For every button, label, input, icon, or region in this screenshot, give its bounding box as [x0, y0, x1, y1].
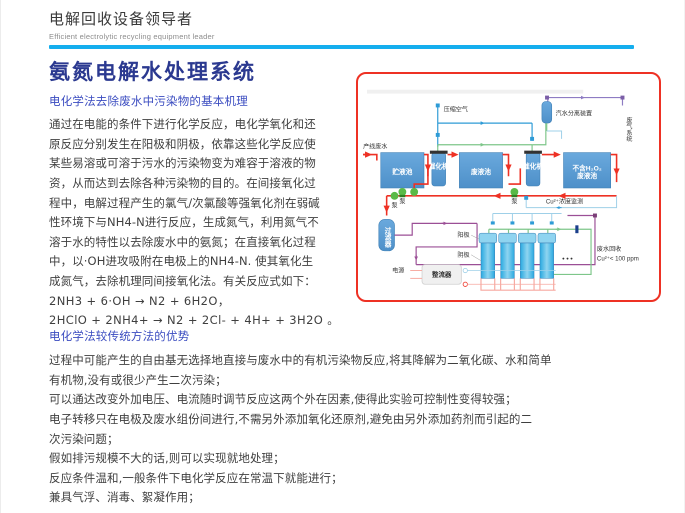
label-compressed-air: 压缩空气 — [444, 105, 468, 113]
label-exhaust-system: 废气系统 — [625, 117, 632, 143]
label-tank-1: 贮液池 — [391, 167, 412, 176]
process-flow-diagram: 废气系统 压缩空气 汽水分离装置 贮液池 — [356, 72, 661, 302]
label-pump-2: 泵 — [511, 199, 517, 206]
section-body: 通过在电能的条件下进行化学反应，电化学氧化和还 原反应分别发生在阳极和阴极，依靠… — [49, 115, 349, 331]
electrolysis-cells — [479, 233, 556, 278]
label-reactor-1: 催化机 — [429, 161, 449, 170]
body-line: 次污染问题； — [49, 430, 609, 450]
body-line: 电子转移只在电极及废水组份间进行,不需另外添加氧化还原剂,避免由另外添加药剂而引… — [49, 410, 609, 430]
body-line: 有机物,没有或很少产生二次污染； — [49, 371, 609, 391]
label-rectifier-input: 电源 — [392, 266, 404, 274]
body-line: 原反应分别发生在阳极和阴极，依靠这些化学反应使 — [49, 135, 349, 155]
equation-line: 2NH3 + 6·OH → N2 + 6H2O， — [49, 292, 349, 312]
section-heading: 电化学法去除废水中污染物的基本机理 — [49, 93, 349, 110]
document-page: 电解回收设备领导者 Efficient electrolytic recycli… — [0, 0, 685, 513]
brand-tagline-en: Efficient electrolytic recycling equipme… — [49, 32, 639, 41]
label-reactor-2: 催化机 — [523, 161, 543, 170]
page-title: 氨氮电解水处理系统 — [49, 60, 256, 85]
body-line: 可以通达改变外加电压、电流随时调节反应这两个外在因素,使得此实验可控制性变得较强… — [49, 390, 609, 410]
body-line: 通过在电能的条件下进行化学反应，电化学氧化和还 — [49, 115, 349, 135]
label-pump-3: 泵 — [391, 203, 397, 210]
label-cu-monitor: Cu²⁺浓度监测 — [546, 198, 583, 206]
body-line: 中，以·OH进攻吸附在电极上的NH4-N. 使其氧化生 — [49, 252, 349, 272]
section-mechanism: 电化学法去除废水中污染物的基本机理 通过在电能的条件下进行化学反应，电化学氧化和… — [49, 93, 349, 331]
section-advantages: 电化学法较传统方法的优势 过程中可能产生的自由基无选择地直接与废水中的有机污染物… — [49, 328, 609, 508]
body-line: 资，从而达到去除各种污染物的目的。在间接氧化过 — [49, 174, 349, 194]
label-rectifier: 整流器 — [431, 269, 452, 278]
body-line: 程中，电解过程产生的氯气/次氯酸等强氧化剂在弱碱 — [49, 194, 349, 214]
label-steam-separator: 汽水分离装置 — [556, 109, 592, 117]
label-recovery: 废水回收 — [597, 245, 621, 253]
body-line: 反应条件温和,一般条件下电化学反应在常温下就能进行； — [49, 469, 609, 489]
label-anode: 阳极 — [457, 231, 469, 239]
label-cathode: 阴极 — [457, 251, 469, 259]
label-tank-3: 不含H₂O₂ — [572, 163, 601, 172]
body-line: 溶于水的特性以去除废水中的氨氮；在直接氧化过程 — [49, 233, 349, 253]
header-divider — [49, 45, 634, 49]
section-body: 过程中可能产生的自由基无选择地直接与废水中的有机污染物反应,将其降解为二氧化碳、… — [49, 351, 609, 508]
body-line: 假如排污规模不大的话,则可以实现就地处理； — [49, 449, 609, 469]
label-raw-water-inlet: 产线废水 — [363, 143, 387, 151]
body-line: 成氮气，去除机理同间接氧化法。有关反应式如下： — [49, 272, 349, 292]
label-cells-ellipsis: • • • — [562, 256, 573, 263]
label-recovery-spec: Cu²⁺< 100 ppm — [597, 256, 639, 263]
section-heading: 电化学法较传统方法的优势 — [49, 328, 609, 345]
brand-name-cn: 电解回收设备领导者 — [49, 10, 639, 30]
label-tank-2: 废液池 — [471, 167, 491, 176]
label-pump-1: 泵 — [399, 199, 405, 206]
body-line: 兼具气浮、消毒、絮凝作用； — [49, 488, 609, 508]
body-line: 过程中可能产生的自由基无选择地直接与废水中的有机污染物反应,将其降解为二氧化碳、… — [49, 351, 609, 371]
label-tank-3b: 废液池 — [577, 171, 597, 180]
diagram-canvas: 废气系统 压缩空气 汽水分离装置 贮液池 — [358, 74, 659, 300]
body-line: 性环境下与NH4-N进行反应，生成氮气，利用氮气不 — [49, 213, 349, 233]
body-line: 某些易溶或可溶于污水的污染物变为难容于溶液的物 — [49, 154, 349, 174]
page-header: 电解回收设备领导者 Efficient electrolytic recycli… — [49, 10, 639, 41]
